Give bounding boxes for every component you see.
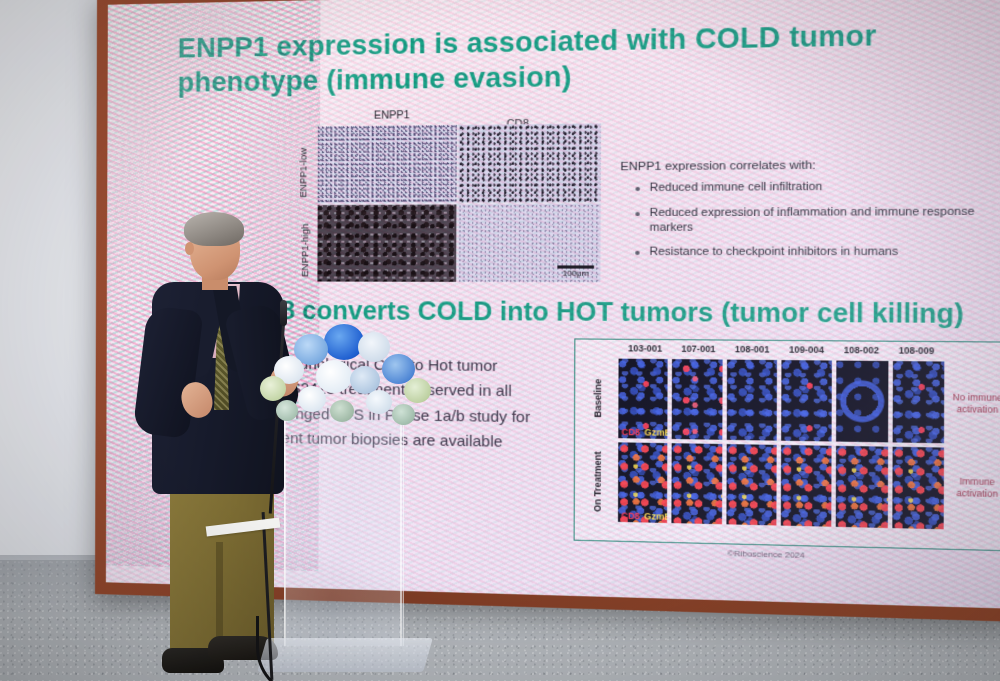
ihc-col-header-enpp1: ENPP1: [374, 109, 410, 122]
flower: [404, 378, 431, 403]
audio-cable: [256, 616, 323, 681]
ihc-panel-enpp1-low: [318, 125, 457, 203]
patient-id: 108-009: [889, 345, 945, 360]
bullet-item: Reduced immune cell infiltration: [635, 179, 989, 196]
patient-id: 109-004: [779, 344, 834, 359]
speaker-hair: [184, 212, 244, 246]
ihc-panel-cd8-in-enpp1-high: 100μm: [458, 204, 600, 282]
ihc-panel-cd8-in-enpp1-low: [459, 123, 601, 202]
patient-id: 108-002: [834, 345, 889, 360]
if-image: CD8GzmB: [618, 442, 668, 523]
annotation-no-immune-activation: No immune activation: [946, 362, 1000, 447]
ihc-row-label-enpp1-low: ENPP1-low: [298, 136, 310, 197]
flower: [276, 400, 298, 421]
if-image: [672, 359, 722, 440]
if-image: [836, 446, 888, 528]
conference-presentation-photo: ENPP1 expression is associated with COLD…: [0, 0, 1000, 681]
slide1-bullet-list: ENPP1 expression correlates with: Reduce…: [620, 158, 990, 271]
if-image: [726, 444, 777, 525]
patient-id: 103-001: [619, 343, 672, 358]
if-legend: CD8GzmB: [621, 510, 667, 522]
lectern: [258, 316, 438, 676]
ihc-image-grid: 100μm: [317, 123, 601, 282]
if-image: [781, 360, 832, 441]
if-row-on-treatment: On Treatment CD8GzmB: [618, 442, 944, 529]
annotation-immune-activation: Immune activation: [946, 445, 1000, 530]
scale-bar-label: 100μm: [557, 269, 594, 278]
legend-gzmb: GzmB: [644, 427, 668, 438]
flower: [330, 400, 354, 422]
legend-cd8: CD8: [621, 510, 640, 521]
flower: [316, 360, 352, 393]
flower: [358, 332, 390, 362]
bullet-text: Reduced immune cell infiltration: [650, 181, 823, 196]
flower: [260, 376, 286, 401]
flower: [298, 386, 326, 412]
floral-arrangement: [254, 316, 440, 426]
patient-id: 107-001: [672, 343, 726, 358]
if-image: [672, 443, 722, 524]
if-image: [892, 447, 944, 530]
if-image: [781, 445, 832, 527]
if-image: [836, 361, 888, 443]
flower: [392, 404, 415, 425]
slide1-title: ENPP1 expression is associated with COLD…: [178, 15, 998, 100]
if-row-label-wrap: Baseline: [579, 358, 616, 438]
speaker-ear: [185, 242, 194, 255]
if-image-rows: Baseline CD8GzmB: [618, 359, 944, 530]
bullet-dot-icon: [635, 187, 639, 191]
bullet-item: Reduced expression of inflammation and i…: [635, 205, 989, 235]
if-image: CD8GzmB: [618, 359, 668, 439]
bullets-lead-in: ENPP1 expression correlates with:: [620, 158, 990, 173]
lectern-edge: [284, 408, 286, 646]
copyright-notice: ©Riboscience 2024: [727, 549, 804, 560]
lectern-edge: [400, 408, 402, 646]
if-row-label-baseline: Baseline: [592, 379, 603, 418]
bullet-text: Reduced expression of inflammation and i…: [649, 205, 989, 235]
if-image: [892, 361, 944, 443]
scale-bar: 100μm: [557, 265, 594, 278]
patient-id-header-row: 103-001 107-001 108-001 109-004 108-002 …: [619, 343, 945, 361]
if-row-label-wrap: On Treatment: [579, 442, 616, 522]
if-row-baseline: Baseline CD8GzmB: [618, 359, 944, 444]
if-legend: CD8GzmB: [622, 427, 668, 438]
bullet-text: Resistance to checkpoint inhibitors in h…: [649, 246, 898, 261]
patient-id: 108-001: [725, 344, 779, 359]
bullet-item: Resistance to checkpoint inhibitors in h…: [635, 246, 989, 261]
lectern-body: [284, 408, 404, 646]
legend-gzmb: GzmB: [644, 511, 668, 522]
if-row-label-on-treatment: On Treatment: [592, 451, 603, 512]
if-image: [726, 360, 777, 441]
legend-cd8: CD8: [622, 427, 641, 438]
bullet-dot-icon: [635, 251, 639, 255]
bullet-dot-icon: [635, 212, 639, 216]
if-annotations: No immune activation Immune activation: [946, 362, 1000, 531]
immunofluorescence-figure: 103-001 107-001 108-001 109-004 108-002 …: [574, 338, 1000, 551]
flower: [366, 390, 392, 414]
